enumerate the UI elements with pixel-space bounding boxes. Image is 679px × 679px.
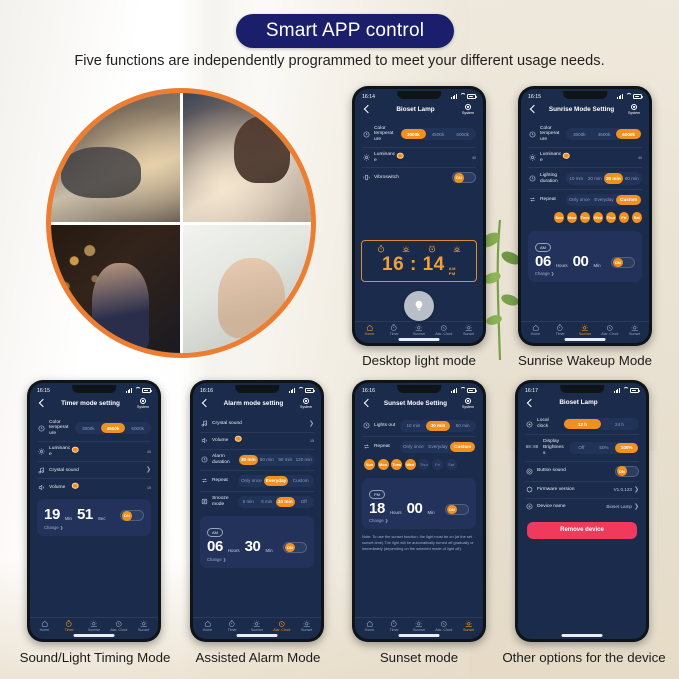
brightness-icon — [528, 154, 536, 162]
option-4500k[interactable]: 4500k — [101, 423, 126, 433]
settings-list: Crystal sound ❯ Volume 1 15 — [193, 412, 321, 617]
sunset-icon — [631, 324, 639, 332]
row-vibroswitch: Vibroswitch ON — [362, 168, 476, 187]
back-icon[interactable] — [525, 398, 534, 407]
back-icon[interactable] — [362, 399, 371, 408]
option-10min[interactable]: 10 min — [276, 497, 295, 507]
system-button[interactable]: System — [460, 104, 476, 115]
hours-value: 18 — [369, 501, 385, 516]
hours-value: 06 — [535, 254, 551, 269]
option-10min[interactable]: 10 min — [567, 173, 586, 183]
weekday-sun[interactable]: Sun — [364, 459, 375, 470]
phone-notch — [397, 91, 441, 99]
back-icon[interactable] — [528, 105, 537, 114]
tab-label: Sunset — [463, 628, 474, 632]
weekday-wed[interactable]: Wed — [405, 459, 416, 470]
collage-photo-relaxing — [183, 225, 312, 354]
minutes-unit: Min — [65, 516, 72, 521]
tab-timer[interactable]: Timer — [548, 324, 573, 336]
weekday-tues[interactable]: Tues — [580, 212, 590, 223]
option-only-once[interactable]: Only once — [239, 476, 264, 486]
option-off[interactable]: Off — [295, 497, 314, 507]
tab-timer[interactable]: Timer — [382, 324, 407, 336]
home-icon — [204, 620, 212, 628]
phone-notch — [397, 385, 441, 393]
wifi-icon — [459, 94, 465, 99]
button-sound-toggle[interactable]: ON — [615, 466, 639, 477]
row-label: Color temperature — [49, 420, 71, 437]
row-crystal-sound[interactable]: Crystal sound ❯ — [37, 462, 151, 479]
sunrise-icon — [415, 620, 423, 628]
tab-sunset[interactable]: Sunset — [131, 620, 156, 632]
back-icon[interactable] — [37, 399, 46, 408]
clock-icon — [525, 420, 533, 428]
battery-icon — [630, 388, 639, 393]
brightness-icon — [37, 448, 45, 456]
hours-value: 06 — [207, 539, 223, 554]
ampm-badge: PM — [369, 490, 385, 499]
caption-sunrise-wakeup-mode: Sunrise Wakeup Mode — [512, 353, 658, 368]
color-temperature-segmented[interactable]: 3000k 4500k 6000k — [400, 128, 476, 140]
tab-label: Timer — [556, 332, 565, 336]
option-3000k[interactable]: 3000k — [567, 129, 592, 139]
tab-timer[interactable]: Timer — [57, 620, 82, 632]
home-indicator — [562, 634, 603, 636]
caption-assisted-alarm-mode: Assisted Alarm Mode — [185, 650, 331, 665]
home-icon — [532, 324, 540, 332]
row-label: Luminance — [374, 152, 396, 164]
row-label: Crystal sound — [49, 468, 87, 474]
alarm-duration-segmented[interactable]: 30 min 60 min 90 min 120 min — [238, 454, 314, 466]
ampm-badge: AM — [535, 243, 551, 252]
tab-home[interactable]: Home — [357, 620, 382, 632]
status-time: 16:16 — [200, 388, 213, 394]
timer-icon — [377, 245, 385, 253]
tab-home[interactable]: Home — [32, 620, 57, 632]
row-crystal-sound[interactable]: Crystal sound ❯ — [200, 416, 314, 433]
sunrise-icon — [90, 620, 98, 628]
app-bar-title: Sunrise Mode Setting — [537, 106, 626, 113]
alarm-enable-toggle[interactable]: ON — [283, 542, 307, 553]
tab-home[interactable]: Home — [357, 324, 382, 336]
system-button[interactable]: System — [460, 398, 476, 409]
firmware-value: V1.0.123 — [614, 487, 632, 492]
app-bar: Bioset Lamp System — [355, 103, 483, 118]
repeat-segmented[interactable]: Only once Everyday Custom — [238, 475, 314, 487]
back-icon[interactable] — [362, 105, 371, 114]
row-display-brightness: 88:88 Display Brightness Off 50% 100% — [525, 435, 639, 461]
row-color-temperature: Color temperature 3000k 4500k 6000k — [37, 416, 151, 442]
tab-label: Sunrise — [251, 628, 263, 632]
status-time: 16:16 — [362, 388, 375, 394]
collage-photo-night — [51, 225, 180, 354]
lighting-duration-segmented[interactable]: 10 min 20 min 30 min 60 min — [566, 172, 642, 184]
display-brightness-segmented[interactable]: Off 50% 100% — [569, 442, 639, 454]
tab-alarm-clock[interactable]: Alar..Clock — [431, 324, 456, 336]
tab-sunset[interactable]: Sunset — [294, 620, 319, 632]
home-icon — [366, 324, 374, 332]
tab-home[interactable]: Home — [523, 324, 548, 336]
snooze-icon — [200, 498, 208, 506]
option-60min[interactable]: 60 min — [450, 421, 475, 431]
row-lighting-duration: Lighting duration 10 min 20 min 30 min 6… — [528, 168, 642, 189]
sunset-icon — [140, 620, 148, 628]
gear-icon — [465, 104, 471, 110]
tab-label: Home — [531, 332, 541, 336]
option-everyday[interactable]: Everyday — [426, 442, 451, 452]
minutes-value: 30 — [245, 539, 261, 554]
sunset-enable-toggle[interactable]: ON — [445, 504, 469, 515]
weekday-fri[interactable]: Fri — [432, 459, 443, 470]
option-custom[interactable]: Custom — [288, 476, 313, 486]
gear-icon — [465, 398, 471, 404]
minutes-value: 00 — [407, 501, 423, 516]
weekday-sat[interactable]: Sat — [446, 459, 457, 470]
phone-other-options: 16:17 Bioset Lamp Local clock 12 h — [515, 380, 649, 642]
row-label: Local clock — [537, 418, 559, 430]
option-30min[interactable]: 30 min — [426, 421, 451, 431]
minutes-value: 00 — [573, 254, 589, 269]
weekday-mon[interactable]: Mon — [567, 212, 577, 223]
weekday-sat[interactable]: Sat — [632, 212, 642, 223]
sunrise-icon — [581, 324, 589, 332]
option-3000k[interactable]: 3000k — [76, 423, 101, 433]
tab-label: Home — [365, 332, 375, 336]
app-bar-title: Timer mode setting — [46, 400, 135, 407]
lights-out-icon — [362, 422, 370, 430]
gear-icon — [631, 104, 637, 110]
color-temperature-icon — [528, 130, 536, 138]
row-repeat: Repeat Only once Everyday Custom — [200, 471, 314, 492]
sunrise-icon — [253, 620, 261, 628]
tab-sunrise[interactable]: Sunrise — [245, 620, 270, 632]
tab-timer[interactable]: Timer — [220, 620, 245, 632]
lifestyle-photo-collage — [46, 88, 316, 358]
home-indicator — [399, 338, 440, 340]
display-pm: PM — [449, 271, 456, 276]
system-button[interactable]: System — [135, 398, 151, 409]
signal-icon — [451, 94, 457, 99]
option-only-once[interactable]: Only once — [567, 195, 592, 205]
signal-icon — [289, 388, 295, 393]
home-icon — [41, 620, 49, 628]
alarm-clock-icon — [606, 324, 614, 332]
weekday-sun[interactable]: Sun — [554, 212, 564, 223]
hours-unit: Hours — [228, 548, 240, 553]
remove-device-button[interactable]: Remove device — [527, 522, 637, 539]
caption-desktop-light-mode: Desktop light mode — [352, 353, 486, 368]
app-bar-title: Bioset Lamp — [371, 106, 460, 113]
change-link[interactable]: Change ❯ — [535, 271, 635, 276]
weekday-fri[interactable]: Fri — [619, 212, 629, 223]
app-bar: Alarm mode setting System — [193, 397, 321, 412]
tab-sunrise[interactable]: Sunrise — [573, 324, 598, 336]
tab-label: Sunset — [463, 332, 474, 336]
option-12h[interactable]: 12 h — [564, 419, 601, 429]
app-bar: Sunset Mode Setting System — [355, 397, 483, 412]
page-subtitle: Five functions are independently program… — [0, 53, 679, 69]
color-temperature-segmented[interactable]: 3000k 4500k 6000k — [566, 128, 642, 140]
row-label: Alarm duration — [212, 454, 234, 466]
option-custom[interactable]: Custom — [616, 195, 641, 205]
tab-label: Timer — [65, 628, 74, 632]
home-indicator — [74, 634, 115, 636]
sunrise-icon — [415, 324, 423, 332]
alarm-enable-toggle[interactable]: ON — [611, 257, 635, 268]
alarm-clock-icon — [200, 456, 208, 464]
app-bar-title: Sunset Mode Setting — [371, 400, 460, 407]
local-clock-segmented[interactable]: 12 h 24 h — [563, 418, 639, 430]
option-120min[interactable]: 120 min — [295, 455, 314, 465]
collage-photo-reading — [183, 93, 312, 222]
volume-icon — [37, 483, 45, 491]
wifi-icon — [297, 388, 303, 393]
home-indicator — [399, 634, 440, 636]
slider-max: 40 — [472, 156, 476, 160]
vibration-icon — [362, 174, 370, 182]
tab-label: Home — [365, 628, 375, 632]
option-5min[interactable]: 5 min — [239, 497, 258, 507]
row-label: Color temperature — [374, 126, 396, 143]
alarm-clock-icon — [278, 620, 286, 628]
option-60min[interactable]: 60 min — [623, 173, 642, 183]
hours-unit: Hours — [556, 263, 568, 268]
tab-alarm-clock[interactable]: Alar..Clock — [269, 620, 294, 632]
chevron-right-icon: ❯ — [309, 421, 314, 427]
timer-icon — [390, 324, 398, 332]
repeat-icon — [200, 477, 208, 485]
option-8min[interactable]: 8 min — [258, 497, 277, 507]
phone-notch — [72, 385, 116, 393]
toggle-knob: ON — [122, 511, 132, 521]
snooze-segmented[interactable]: 5 min 8 min 10 min Off — [238, 496, 314, 508]
toggle-knob: ON — [447, 505, 457, 515]
option-30min[interactable]: 30 min — [239, 455, 258, 465]
color-temperature-icon — [362, 130, 370, 138]
minutes-value: 19 — [44, 507, 60, 522]
sunset-icon — [453, 245, 461, 253]
timer-icon — [65, 620, 73, 628]
tab-timer[interactable]: Timer — [382, 620, 407, 632]
firmware-icon — [525, 486, 533, 494]
option-20min[interactable]: 20 min — [586, 173, 605, 183]
seven-segment-icon: 88:88 — [525, 444, 539, 452]
slider-max: 15 — [147, 486, 151, 490]
change-link[interactable]: Change ❯ — [369, 518, 469, 523]
option-100[interactable]: 100% — [615, 443, 638, 453]
row-alarm-duration: Alarm duration 30 min 60 min 90 min 120 … — [200, 450, 314, 471]
bulb-icon — [412, 299, 426, 313]
timer-enable-toggle[interactable]: ON — [120, 510, 144, 521]
row-label: Color temperature — [540, 126, 562, 143]
tab-label: Sunset — [301, 628, 312, 632]
weekday-thur[interactable]: Thur — [418, 459, 429, 470]
row-label: Crystal sound — [212, 421, 250, 427]
color-temperature-icon — [37, 424, 45, 432]
button-sound-icon — [525, 467, 533, 475]
row-volume: Volume 0 15 — [37, 479, 151, 495]
back-icon[interactable] — [200, 399, 209, 408]
phone-sound-light-timing-mode: 16:15 Timer mode setting System Color te… — [27, 380, 161, 642]
alarm-time-card: AM 06 Hours 00 Min ON Change ❯ — [528, 231, 642, 283]
option-3000k[interactable]: 3000k — [401, 129, 426, 139]
tab-home[interactable]: Home — [195, 620, 220, 632]
tab-label: Sunrise — [413, 628, 425, 632]
option-6000k[interactable]: 6000k — [616, 129, 641, 139]
weekday-tues[interactable]: Tues — [391, 459, 402, 470]
option-30min[interactable]: 30 min — [604, 173, 623, 183]
slider-max: 15 — [310, 439, 314, 443]
row-repeat: Repeat Only once Everyday Custom — [362, 437, 476, 457]
signal-icon — [617, 94, 623, 99]
phone-sunrise-wakeup-mode: 16:15 Sunrise Mode Setting System Color … — [518, 86, 652, 346]
power-button[interactable] — [404, 291, 434, 321]
phone-notch — [560, 385, 604, 393]
tab-label: Sunset — [629, 332, 640, 336]
phone-desktop-light-mode: 16:14 Bioset Lamp System Color temperatu… — [352, 86, 486, 346]
option-6000k[interactable]: 6000k — [450, 129, 475, 139]
wifi-icon — [134, 388, 140, 393]
row-luminance: Luminance 0 40 — [37, 442, 151, 463]
app-bar: Sunrise Mode Setting System — [521, 103, 649, 118]
row-luminance: Luminance 1 40 — [362, 148, 476, 169]
settings-list: Lights out 10 min 30 min 60 min Repeat O — [355, 412, 483, 617]
device-name-value: Bioset Lamp — [606, 504, 632, 509]
music-note-icon — [200, 420, 208, 428]
option-24h[interactable]: 24 h — [601, 419, 638, 429]
status-time: 16:15 — [528, 94, 541, 100]
minutes-unit: Min — [266, 548, 273, 553]
system-button[interactable]: System — [626, 104, 642, 115]
volume-icon — [200, 437, 208, 445]
row-label: Volume — [212, 438, 234, 444]
weekday-wed[interactable]: Wed — [593, 212, 603, 223]
tab-label: Sunrise — [88, 628, 100, 632]
repeat-icon — [362, 443, 370, 451]
row-firmware-version[interactable]: Firmware version V1.0.123 ❯ — [525, 482, 639, 499]
row-snooze-mode: Snooze mode 5 min 8 min 10 min Off — [200, 492, 314, 512]
settings-list: Local clock 12 h 24 h 88:88 Display Brig… — [518, 410, 646, 630]
tab-label: Alar..Clock — [435, 628, 452, 632]
tab-sunrise[interactable]: Sunrise — [407, 324, 432, 336]
row-label: Luminance — [540, 152, 562, 164]
change-link[interactable]: Change ❯ — [207, 557, 307, 562]
home-indicator — [565, 338, 606, 340]
system-label: System — [462, 405, 474, 409]
option-4500k[interactable]: 4500k — [592, 129, 617, 139]
tab-label: Alar..Clock — [110, 628, 127, 632]
row-label: Button sound — [537, 468, 575, 474]
lights-out-segmented[interactable]: 10 min 30 min 60 min — [400, 420, 476, 432]
tab-alarm-clock[interactable]: Alar..Clock — [597, 324, 622, 336]
sunrise-icon — [402, 245, 410, 253]
option-4500k[interactable]: 4500k — [426, 129, 451, 139]
tab-alarm-clock[interactable]: Alar..Clock — [431, 620, 456, 632]
status-time: 16:14 — [362, 94, 375, 100]
option-90min[interactable]: 90 min — [276, 455, 295, 465]
alarm-clock-icon — [428, 245, 436, 253]
weekday-selector: Sun Mon Tues Wed Thur Fri Sat — [362, 457, 476, 474]
tab-label: Alar..Clock — [601, 332, 618, 336]
tab-sunset[interactable]: Sunset — [456, 324, 481, 336]
battery-icon — [142, 388, 151, 393]
tab-alarm-clock[interactable]: Alar..Clock — [106, 620, 131, 632]
chevron-right-icon: ❯ — [634, 504, 639, 510]
alarm-clock-icon — [115, 620, 123, 628]
row-label: Repeat — [212, 478, 234, 484]
row-device-name[interactable]: Device name Bioset Lamp ❯ — [525, 499, 639, 515]
timer-card: 19 Min 51 Sec ON Change ❯ — [37, 499, 151, 536]
toggle-knob: ON — [285, 543, 295, 553]
weekday-mon[interactable]: Mon — [378, 459, 389, 470]
duration-icon — [528, 175, 536, 183]
option-everyday[interactable]: Everyday — [592, 195, 617, 205]
wifi-icon — [625, 94, 631, 99]
app-bar-title: Alarm mode setting — [209, 400, 298, 407]
option-6000k[interactable]: 6000k — [125, 423, 150, 433]
tab-label: Sunset — [138, 628, 149, 632]
row-label: Lights out — [374, 423, 396, 429]
tab-label: Sunrise — [579, 332, 591, 336]
option-50[interactable]: 50% — [593, 443, 616, 453]
system-button[interactable]: System — [298, 398, 314, 409]
change-link[interactable]: Change ❯ — [44, 525, 144, 530]
phone-sunset-mode: 16:16 Sunset Mode Setting System Lights … — [352, 380, 486, 642]
color-temperature-segmented[interactable]: 3000k 4500k 6000k — [75, 422, 151, 434]
seconds-value: 51 — [77, 507, 93, 522]
tab-sunrise[interactable]: Sunrise — [407, 620, 432, 632]
wifi-icon — [459, 388, 465, 393]
tab-sunrise[interactable]: Sunrise — [82, 620, 107, 632]
row-label: Display Brightness — [543, 439, 565, 456]
row-label: Repeat — [374, 444, 396, 450]
wifi-icon — [622, 388, 628, 393]
row-luminance: Luminance 1 40 — [528, 148, 642, 169]
option-10min[interactable]: 10 min — [401, 421, 426, 431]
option-off[interactable]: Off — [570, 443, 593, 453]
system-label: System — [137, 405, 149, 409]
tab-label: Home — [40, 628, 50, 632]
repeat-segmented[interactable]: Only once Everyday Custom — [566, 194, 642, 206]
timer-icon — [390, 620, 398, 628]
battery-icon — [305, 388, 314, 393]
option-custom[interactable]: Custom — [450, 442, 475, 452]
alarm-clock-icon — [440, 620, 448, 628]
option-60min[interactable]: 60 min — [258, 455, 277, 465]
tab-label: Timer — [228, 628, 237, 632]
signal-icon — [126, 388, 132, 393]
chevron-right-icon: ❯ — [634, 487, 639, 493]
caption-sunset-mode: Sunset mode — [352, 650, 486, 665]
app-bar-title: Bioset Lamp — [534, 399, 623, 406]
phone-assisted-alarm-mode: 16:16 Alarm mode setting System Crystal … — [190, 380, 324, 642]
row-lights-out: Lights out 10 min 30 min 60 min — [362, 416, 476, 437]
vibroswitch-toggle[interactable]: ON — [452, 172, 476, 183]
chevron-right-icon: ❯ — [146, 467, 151, 473]
repeat-segmented[interactable]: Only once Everyday Custom — [400, 441, 476, 453]
row-label: Vibroswitch — [374, 175, 412, 181]
timer-icon — [556, 324, 564, 332]
settings-list: Color temperature 3000k 4500k 6000k Lumi… — [30, 412, 158, 617]
tab-sunset[interactable]: Sunset — [456, 620, 481, 632]
tab-sunset[interactable]: Sunset — [622, 324, 647, 336]
brightness-icon — [362, 154, 370, 162]
weekday-thur[interactable]: Thur — [606, 212, 616, 223]
option-only-once[interactable]: Only once — [401, 442, 426, 452]
option-everyday[interactable]: Everyday — [264, 476, 289, 486]
minutes-unit: Min — [594, 263, 601, 268]
sunset-icon — [465, 324, 473, 332]
